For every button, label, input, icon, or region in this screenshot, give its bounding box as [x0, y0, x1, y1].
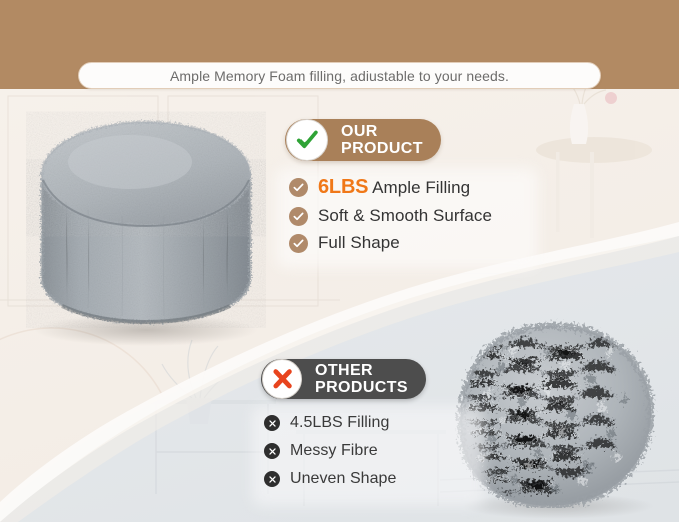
check-circle-icon	[289, 207, 308, 226]
our-product-feature-list: 6LBS Ample Filling Soft & Smooth Surface…	[289, 176, 492, 260]
list-item-text: 6LBS Ample Filling	[318, 176, 470, 199]
cross-circle-icon	[264, 471, 280, 487]
list-item-label: Uneven Shape	[290, 470, 396, 488]
our-product-badge: OUR PRODUCT	[285, 119, 441, 161]
our-product-photo	[26, 110, 266, 328]
check-circle-icon	[289, 178, 308, 197]
cross-circle-icon	[264, 415, 280, 431]
green-check-icon	[286, 119, 328, 161]
subtitle-pill: Ample Memory Foam filling, adiustable to…	[78, 62, 601, 89]
list-item-label: Ample Filling	[368, 178, 470, 197]
other-products-feature-list: 4.5LBS Filling Messy Fibre Uneven Shape	[264, 414, 396, 498]
list-item-label: 4.5LBS Filling	[290, 414, 389, 432]
subtitle-text: Ample Memory Foam filling, adiustable to…	[170, 68, 509, 84]
check-circle-icon	[289, 234, 308, 253]
list-item: Full Shape	[289, 233, 492, 253]
list-item: Messy Fibre	[264, 442, 396, 460]
list-item-label: Full Shape	[318, 233, 400, 253]
other-products-badge: OTHER PRODUCTS	[261, 359, 426, 399]
other-product-photo	[455, 318, 660, 508]
list-item-label: Messy Fibre	[290, 442, 378, 460]
our-product-badge-label: OUR PRODUCT	[341, 123, 423, 157]
list-item-label: Soft & Smooth Surface	[318, 206, 492, 226]
other-products-badge-label: OTHER PRODUCTS	[315, 362, 408, 396]
red-cross-icon	[262, 359, 302, 399]
list-item: 4.5LBS Filling	[264, 414, 396, 432]
filling-weight-highlight: 6LBS	[318, 176, 368, 198]
product-comparison-infographic: WHY CHOOSE OUR PRODUCTS ? Ample Memory F…	[0, 0, 679, 522]
list-item: 6LBS Ample Filling	[289, 176, 492, 199]
list-item: Uneven Shape	[264, 470, 396, 488]
cross-circle-icon	[264, 443, 280, 459]
list-item: Soft & Smooth Surface	[289, 206, 492, 226]
